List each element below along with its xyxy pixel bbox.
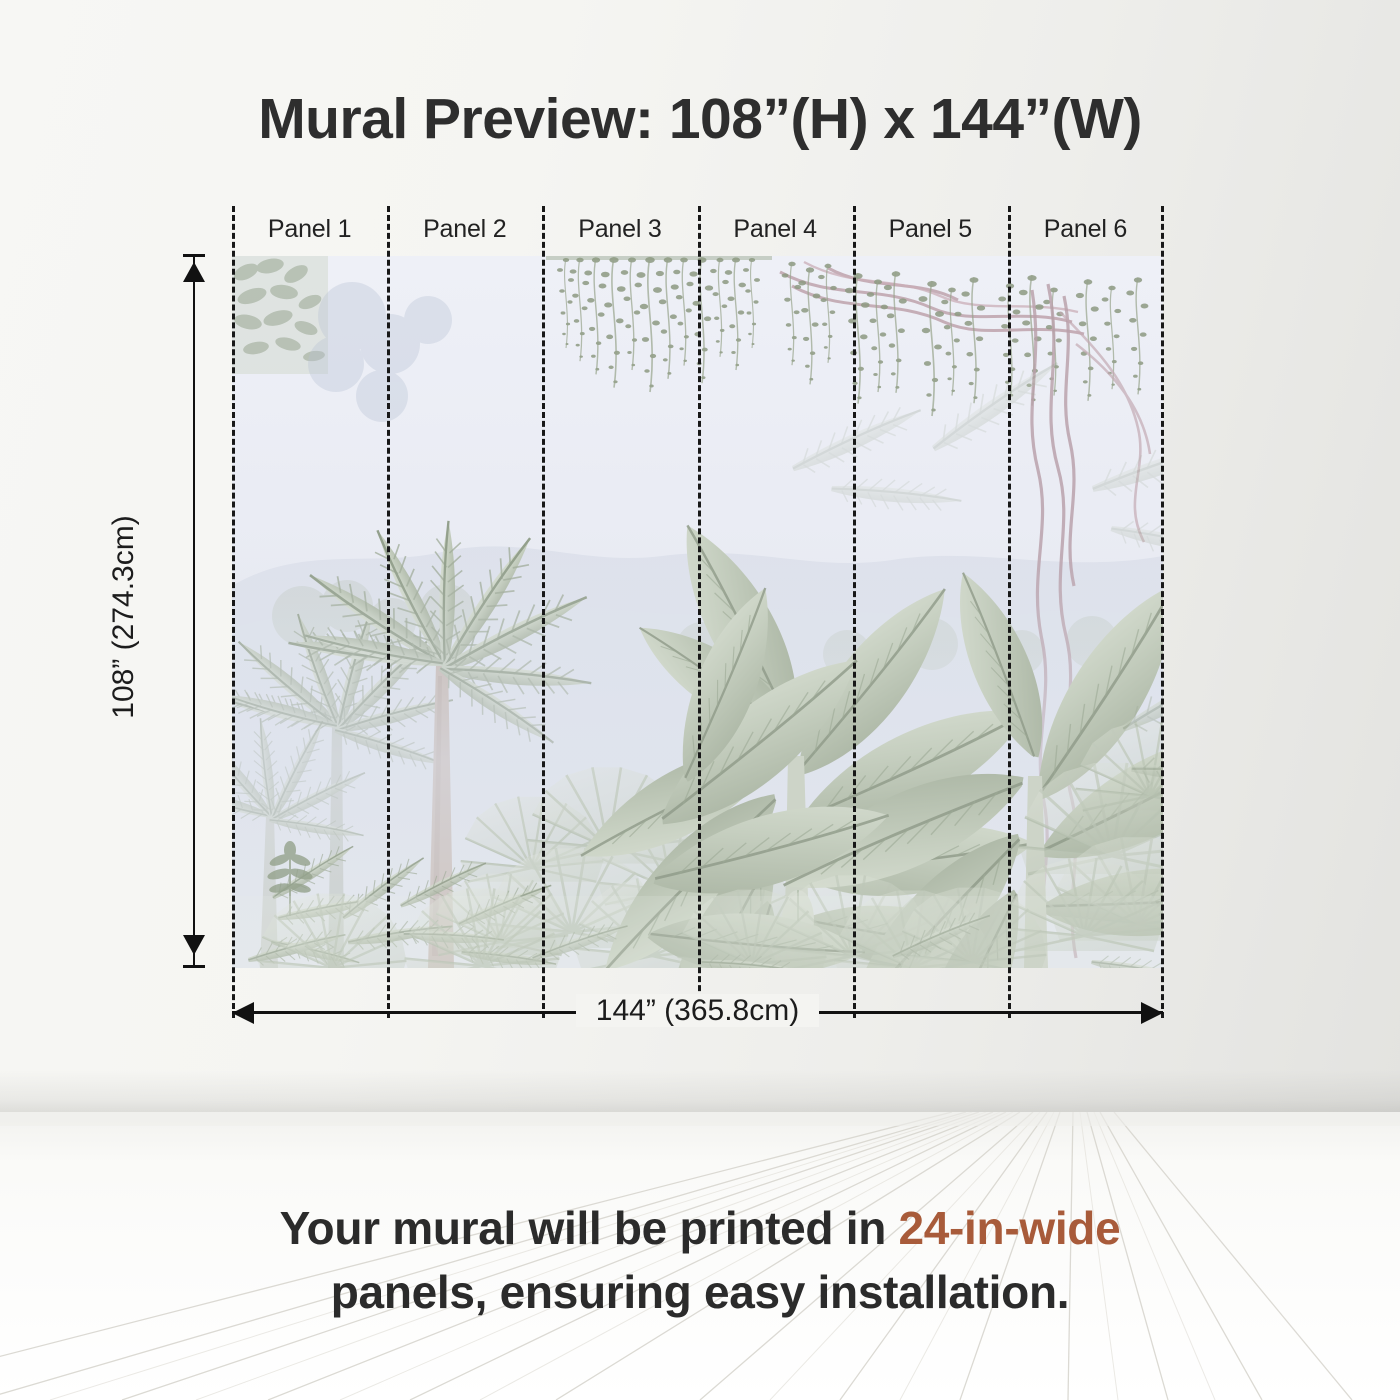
panel-guide-0 (232, 206, 235, 1018)
caption-accent-text: 24-in-wide (898, 1202, 1120, 1254)
panel-guide-4 (853, 206, 856, 1018)
panel-guide-3 (698, 206, 701, 1018)
panel-label-5: Panel 5 (853, 212, 1008, 246)
height-dimension-label: 108” (274.3cm) (107, 467, 141, 767)
height-tick-top (183, 254, 205, 257)
panel-guide-1 (387, 206, 390, 1018)
caption-line-1: Your mural will be printed in 24-in-wide (0, 1196, 1400, 1260)
panel-guide-5 (1008, 206, 1011, 1018)
footer-caption: Your mural will be printed in 24-in-wide… (0, 1196, 1400, 1324)
height-arrow-up (183, 262, 205, 282)
caption-line-2: panels, ensuring easy installation. (0, 1260, 1400, 1324)
caption-line-1-pre: Your mural will be printed in (280, 1202, 899, 1254)
panel-label-6: Panel 6 (1008, 212, 1163, 246)
width-dimension-text: 144” (365.8cm) (576, 994, 819, 1027)
mural-preview-screen: Mural Preview: 108”(H) x 144”(W) Panel 1… (0, 0, 1400, 1400)
height-tick-bottom (183, 965, 205, 968)
panel-label-2: Panel 2 (387, 212, 542, 246)
panel-label-1: Panel 1 (232, 212, 387, 246)
height-arrow-down (183, 935, 205, 955)
panel-guide-6 (1161, 206, 1164, 1018)
width-dimension-label: 144” (365.8cm) (232, 994, 1163, 1028)
panel-label-3: Panel 3 (542, 212, 697, 246)
height-dimension-line (193, 256, 195, 968)
panel-guide-2 (542, 206, 545, 1018)
page-title: Mural Preview: 108”(H) x 144”(W) (0, 86, 1400, 152)
wall-baseboard-shadow (0, 1070, 1400, 1112)
panel-label-4: Panel 4 (698, 212, 853, 246)
